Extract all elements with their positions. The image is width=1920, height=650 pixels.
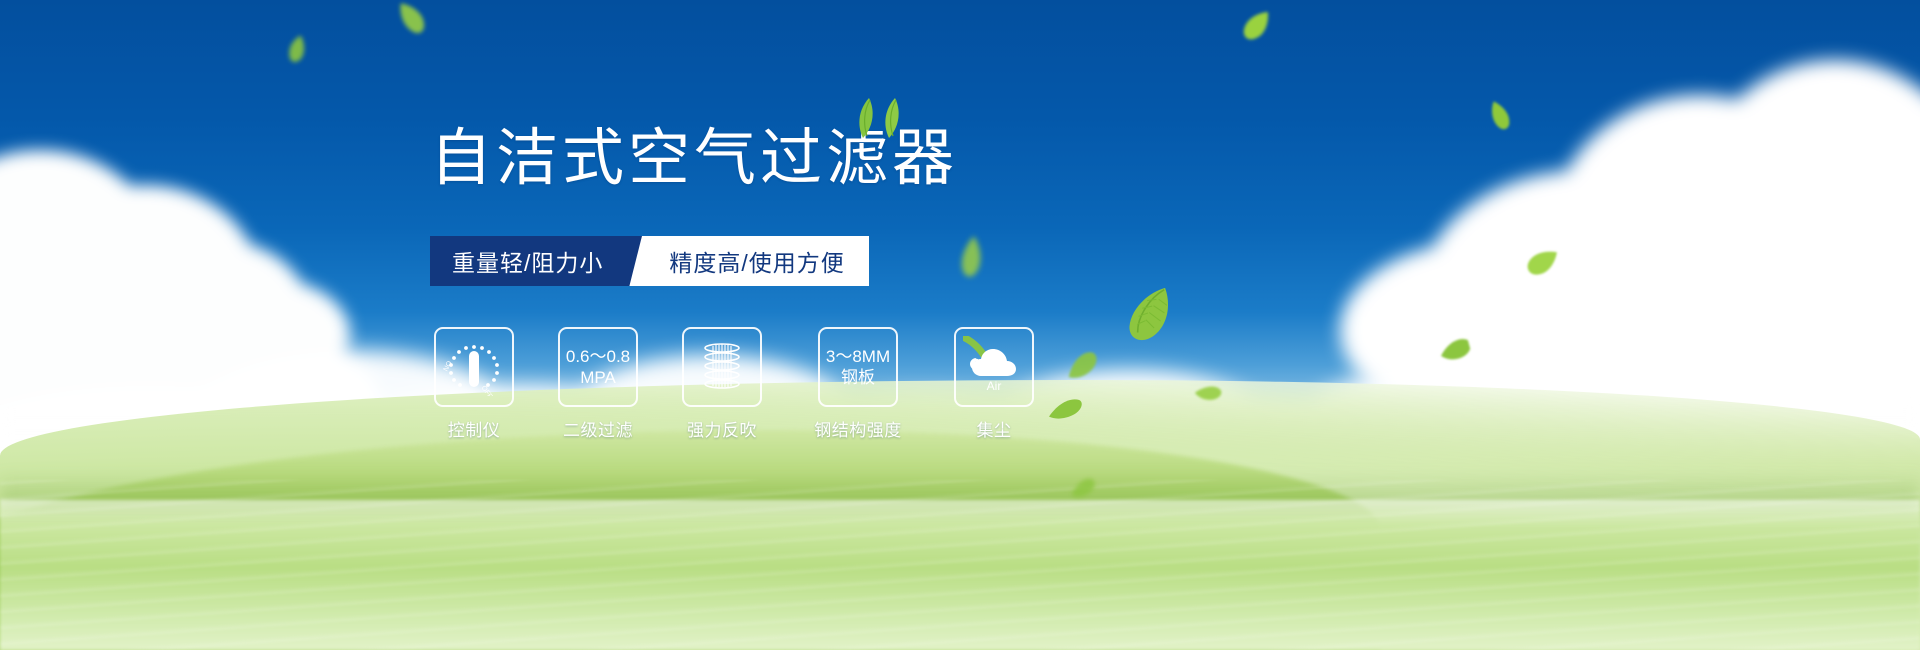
cloud-air-label: Air (987, 379, 1002, 393)
tagline-left: 重量轻/阻力小 (430, 236, 629, 286)
feature-item[interactable]: 强力反吹 (682, 327, 762, 441)
feature-icon-box: 0.6～0.8 MPA (558, 327, 638, 407)
leaf-icon (1046, 396, 1085, 423)
feature-item[interactable]: 0.6～0.8 MPA 二级过滤 (558, 327, 638, 441)
product-hero-banner: 自洁式空气过滤器 重量轻/阻力小 精度高/使用方便 (0, 0, 1920, 650)
pressure-text-icon: 0.6～0.8 MPA (566, 346, 630, 389)
feature-item[interactable]: NO OFF 控制仪 (434, 327, 514, 441)
feature-label: 控制仪 (448, 416, 501, 441)
feature-icon-box: NO OFF (434, 327, 514, 407)
tagline-right: 精度高/使用方便 (659, 236, 868, 286)
tagline-divider (629, 236, 659, 286)
feature-item[interactable]: 3～8MM 钢板 钢结构强度 (806, 327, 910, 441)
feature-label: 钢结构强度 (814, 416, 902, 441)
tagline-banner: 重量轻/阻力小 精度高/使用方便 (430, 236, 869, 286)
feature-label: 二级过滤 (563, 416, 633, 441)
feature-icon-box (682, 327, 762, 407)
feature-label: 集尘 (977, 416, 1012, 441)
gauge-dial-icon: NO OFF (442, 338, 506, 396)
pressure-line-1: 0.6～0.8 (566, 346, 630, 367)
steel-plate-text-icon: 3～8MM 钢板 (826, 346, 890, 389)
filter-cartridge-icon (693, 338, 751, 396)
feature-item[interactable]: Air 集尘 (954, 327, 1034, 441)
feature-label: 强力反吹 (687, 416, 757, 441)
cloud-air-icon: Air (963, 336, 1025, 398)
steel-line-2: 钢板 (826, 367, 890, 388)
feature-icon-box: 3～8MM 钢板 (818, 327, 898, 407)
title-leaf-decoration (845, 96, 905, 140)
steel-line-1: 3～8MM (826, 346, 890, 367)
feature-list: NO OFF 控制仪 0.6～0.8 MPA 二级过滤 (434, 327, 1034, 441)
feature-icon-box: Air (954, 327, 1034, 407)
pressure-line-2: MPA (566, 367, 630, 388)
svg-text:OFF: OFF (480, 385, 494, 396)
